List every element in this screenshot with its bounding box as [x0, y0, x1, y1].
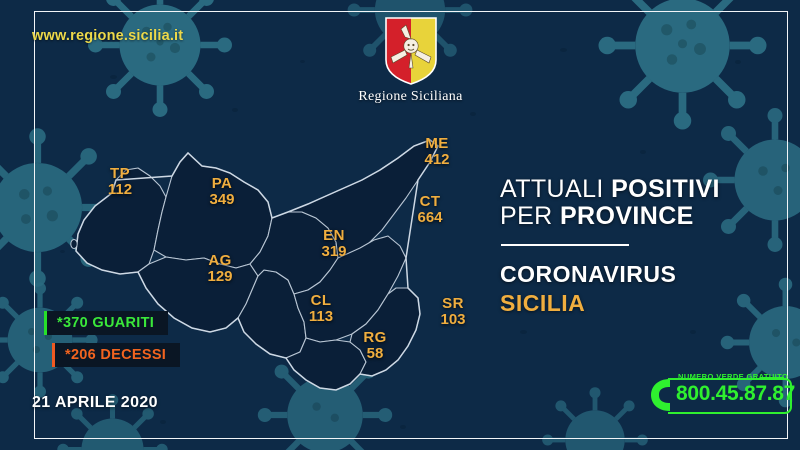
province-code-pa: PA — [194, 176, 250, 192]
sicilian-trinacria-crest-icon — [384, 16, 438, 86]
hotline-label-rule — [760, 377, 784, 379]
province-code-me: ME — [409, 136, 465, 152]
map-label-pa[interactable]: PA 349 — [194, 176, 250, 207]
subject-sicilia: SICILIA — [500, 290, 750, 317]
virus-particle-icon — [85, 0, 235, 120]
headline-line-2: PER PROVINCE — [500, 203, 750, 230]
province-value-ag: 129 — [192, 269, 248, 285]
province-value-en: 319 — [306, 244, 362, 260]
report-date: 21 APRILE 2020 — [32, 394, 158, 412]
map-label-tp[interactable]: TP 112 — [94, 166, 146, 197]
province-code-rg: RG — [349, 330, 401, 346]
summary-stats: *370 GUARITI *206 DECESSI — [44, 311, 180, 367]
headline-per: PER — [500, 202, 553, 230]
province-value-pa: 349 — [194, 192, 250, 208]
subject-coronavirus: CORONAVIRUS — [500, 261, 750, 288]
stat-deaths-badge: *206 DECESSI — [52, 343, 180, 367]
headline-line-1: ATTUALI POSITIVI — [500, 176, 750, 203]
province-code-ct: CT — [402, 194, 458, 210]
map-label-rg[interactable]: RG 58 — [349, 330, 401, 361]
province-code-cl: CL — [294, 293, 348, 309]
province-value-tp: 112 — [94, 182, 146, 198]
virus-particle-icon — [540, 385, 650, 450]
hotline-number[interactable]: 800.45.87.87 — [676, 382, 795, 406]
province-value-sr: 103 — [426, 312, 480, 328]
headline-positivi: POSITIVI — [611, 175, 720, 203]
logo-caption: Regione Siciliana — [338, 89, 483, 105]
province-shape-pa — [154, 153, 272, 268]
map-islet — [71, 240, 77, 249]
province-code-en: EN — [306, 228, 362, 244]
province-value-me: 412 — [409, 152, 465, 168]
headline-panel: ATTUALI POSITIVI PER PROVINCE CORONAVIRU… — [500, 176, 750, 317]
stat-recovered-badge: *370 GUARITI — [44, 311, 168, 335]
map-label-ct[interactable]: CT 664 — [402, 194, 458, 225]
headline-province: PROVINCE — [560, 202, 694, 230]
province-value-rg: 58 — [349, 346, 401, 362]
province-code-ag: AG — [192, 253, 248, 269]
regione-siciliana-logo: Regione Siciliana — [338, 16, 483, 105]
map-label-sr[interactable]: SR 103 — [426, 296, 480, 327]
headline-attuali: ATTUALI — [500, 175, 604, 203]
map-label-ag[interactable]: AG 129 — [192, 253, 248, 284]
map-label-en[interactable]: EN 319 — [306, 228, 362, 259]
headline-divider — [501, 244, 629, 246]
province-code-tp: TP — [94, 166, 146, 182]
phone-handset-icon — [648, 376, 674, 414]
province-value-ct: 664 — [402, 210, 458, 226]
province-code-sr: SR — [426, 296, 480, 312]
map-label-me[interactable]: ME 412 — [409, 136, 465, 167]
infographic-poster: www.regione.sicilia.it Regione Siciliana — [0, 0, 800, 450]
province-value-cl: 113 — [294, 309, 348, 325]
map-label-cl[interactable]: CL 113 — [294, 293, 348, 324]
website-url[interactable]: www.regione.sicilia.it — [32, 28, 183, 44]
